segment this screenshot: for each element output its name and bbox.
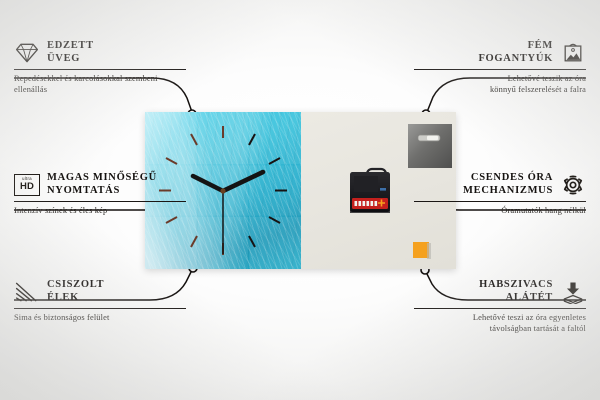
feature-habszivacs-alatet: HABSZIVACSALÁTÉT Lehetővé teszi az óra e… — [414, 279, 586, 334]
feature-title: EDZETTÜVEG — [47, 40, 94, 65]
foam-spacer-part — [413, 242, 431, 259]
feature-title: CSISZOLTÉLEK — [47, 279, 104, 304]
divider — [14, 201, 186, 202]
feature-csendes-ora-mechanizmus: CSENDES ÓRAMECHANIZMUS Óramutatók hang n… — [414, 172, 586, 217]
divider — [414, 308, 586, 309]
feature-fem-fogantyuk: FÉMFOGANTYÚK Lehetővé teszik az órakönny… — [414, 40, 586, 95]
feature-description: Repedésekkel és karcolásokkal szembeni e… — [14, 74, 186, 95]
foam-spacer-icon — [560, 280, 586, 304]
feature-title: HABSZIVACSALÁTÉT — [479, 279, 553, 304]
metal-hanger-part — [408, 124, 452, 168]
polished-edges-icon — [14, 280, 40, 304]
feature-csiszolt-elek: CSISZOLTÉLEK Sima és biztonságos felület — [14, 279, 186, 324]
badge-large-label: HD — [20, 182, 34, 192]
divider — [14, 308, 186, 309]
feature-edzett-uveg: EDZETTÜVEG Repedésekkel és karcolásokkal… — [14, 40, 186, 95]
feature-title: CSENDES ÓRAMECHANIZMUS — [463, 172, 553, 197]
feature-description: Intenzív színek és éles kép — [14, 206, 186, 217]
feature-description: Óramutatók hang nélkül — [414, 206, 586, 217]
picture-hanger-icon — [560, 41, 586, 65]
diamond-icon — [14, 41, 40, 65]
feature-title: FÉMFOGANTYÚK — [478, 40, 553, 65]
feature-title: MAGAS MINŐSÉGŰNYOMTATÁS — [47, 172, 157, 197]
infographic-canvas: EDZETTÜVEG Repedésekkel és karcolásokkal… — [0, 0, 600, 400]
feature-description: Sima és biztonságos felület — [14, 313, 186, 324]
ultra-hd-badge-icon: ultra HD — [14, 174, 40, 196]
divider — [414, 201, 586, 202]
gear-icon — [560, 173, 586, 197]
feature-description: Lehetővé teszi az óra egyenletestávolság… — [414, 313, 586, 334]
feature-magas-minosegu-nyomtatas: ultra HD MAGAS MINŐSÉGŰNYOMTATÁS Intenzí… — [14, 172, 186, 217]
product-photo — [145, 112, 456, 269]
divider — [414, 69, 586, 70]
clock-mechanism-part — [350, 169, 390, 213]
divider — [14, 69, 186, 70]
feature-description: Lehetővé teszik az órakönnyű felszerelés… — [414, 74, 586, 95]
